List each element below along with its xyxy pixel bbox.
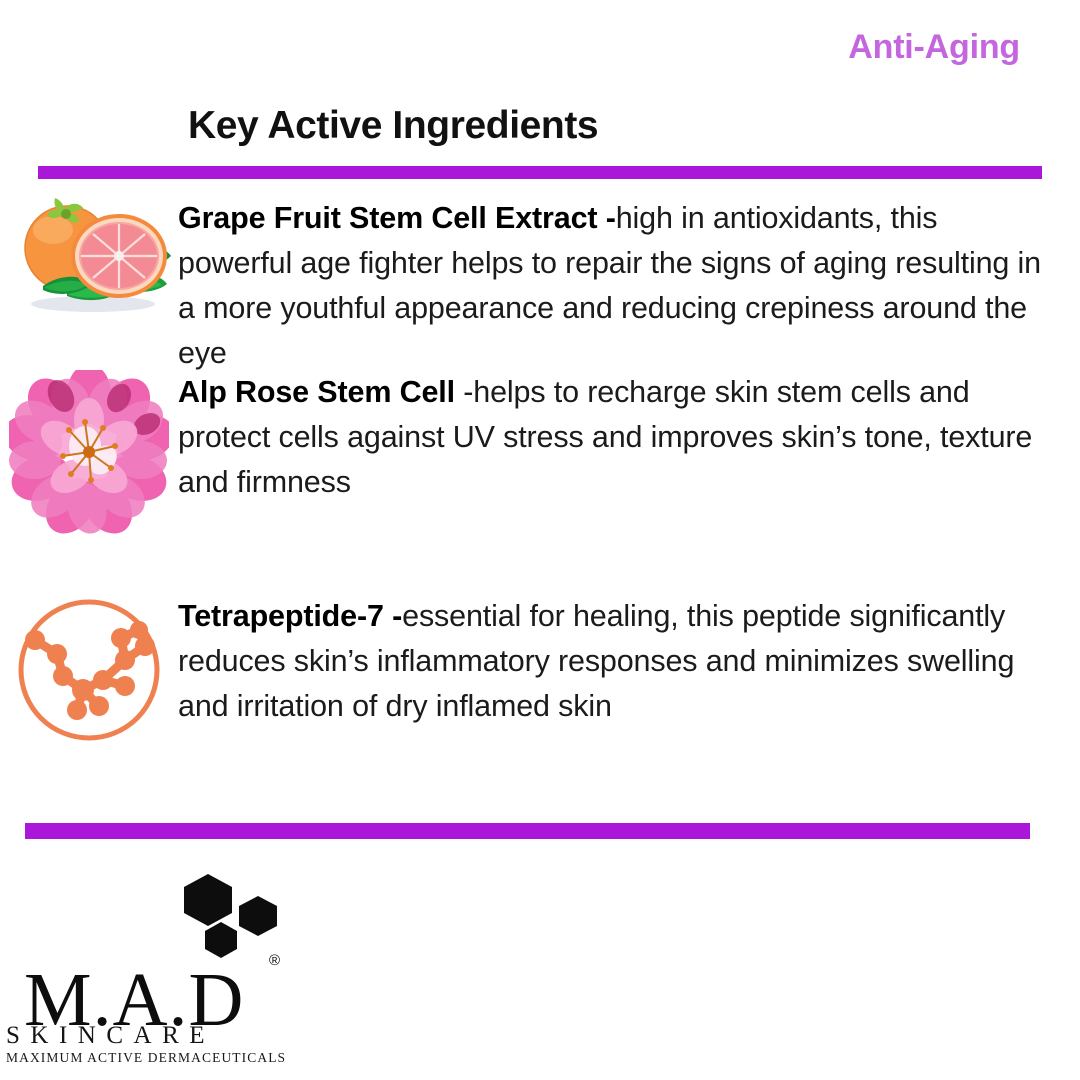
ingredient-separator: -	[463, 375, 473, 409]
logo-skincare-line: SKINCARE	[6, 1022, 215, 1050]
ingredient-row: Tetrapeptide-7 -essential for healing, t…	[0, 594, 1050, 746]
ingredient-name: Grape Fruit Stem Cell Extract	[178, 201, 606, 235]
infographic-page: Anti-Aging Key Active Ingredients	[0, 0, 1080, 1080]
page-title: Key Active Ingredients	[188, 104, 598, 148]
logo-tagline: MAXIMUM ACTIVE DERMACEUTICALS	[6, 1050, 286, 1066]
ingredient-separator: -	[392, 599, 402, 633]
grapefruit-icon	[0, 196, 178, 316]
divider-top	[38, 166, 1042, 179]
registered-trademark-icon: ®	[269, 952, 280, 969]
ingredient-separator: -	[606, 201, 616, 235]
category-label: Anti-Aging	[0, 28, 1020, 67]
peptide-molecule-icon	[0, 594, 178, 746]
ingredient-row: Alp Rose Stem Cell -helps to recharge sk…	[0, 370, 1050, 535]
ingredient-name: Tetrapeptide-7	[178, 599, 392, 633]
divider-bottom	[25, 823, 1030, 839]
ingredient-description: Alp Rose Stem Cell -helps to recharge sk…	[178, 370, 1050, 505]
alp-rose-flower-icon	[0, 370, 178, 535]
ingredient-description: Grape Fruit Stem Cell Extract -high in a…	[178, 196, 1050, 376]
ingredient-row: Grape Fruit Stem Cell Extract -high in a…	[0, 196, 1050, 376]
ingredient-name: Alp Rose Stem Cell	[178, 375, 463, 409]
ingredient-description: Tetrapeptide-7 -essential for healing, t…	[178, 594, 1050, 729]
